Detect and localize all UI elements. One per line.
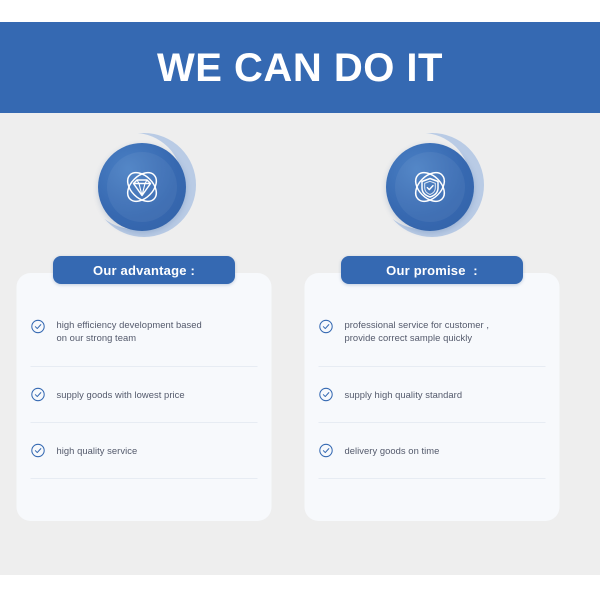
check-circle-icon	[31, 319, 46, 334]
diamond-orbit-icon	[116, 161, 168, 213]
list-item-text: supply high quality standard	[345, 388, 463, 401]
list-item-text: supply goods with lowest price	[57, 388, 185, 401]
check-circle-icon	[319, 443, 334, 458]
pill-advantage[interactable]: Our advantage :	[53, 256, 235, 284]
column-promise: Our promise : professional service for c…	[288, 113, 576, 575]
check-circle-icon	[31, 443, 46, 458]
content-stage: Our advantage : high efficiency developm…	[0, 113, 600, 575]
badge-promise	[380, 133, 484, 237]
list-item: high quality service	[31, 423, 258, 479]
poster-page: WE CAN DO IT	[0, 0, 600, 600]
column-advantage: Our advantage : high efficiency developm…	[0, 113, 288, 575]
list-item: supply high quality standard	[319, 367, 546, 423]
shield-check-orbit-icon	[404, 161, 456, 213]
list-item-text: professional service for customer , prov…	[345, 318, 490, 345]
card-advantage: high efficiency development based on our…	[17, 273, 272, 521]
list-item: professional service for customer , prov…	[319, 311, 546, 367]
list-item: delivery goods on time	[319, 423, 546, 479]
check-circle-icon	[31, 387, 46, 402]
list-item-text: high efficiency development based on our…	[57, 318, 202, 345]
badge-disc	[386, 143, 474, 231]
header-banner: WE CAN DO IT	[0, 22, 600, 113]
list-item: supply goods with lowest price	[31, 367, 258, 423]
badge-advantage	[92, 133, 196, 237]
check-circle-icon	[319, 387, 334, 402]
list-item-text: delivery goods on time	[345, 444, 440, 457]
pill-promise[interactable]: Our promise :	[341, 256, 523, 284]
advantage-list: high efficiency development based on our…	[17, 311, 272, 479]
list-item-text: high quality service	[57, 444, 138, 457]
promise-list: professional service for customer , prov…	[305, 311, 560, 479]
list-item: high efficiency development based on our…	[31, 311, 258, 367]
card-promise: professional service for customer , prov…	[305, 273, 560, 521]
check-circle-icon	[319, 319, 334, 334]
page-title: WE CAN DO IT	[157, 48, 443, 88]
pill-promise-label: Our promise :	[386, 264, 478, 277]
badge-disc	[98, 143, 186, 231]
pill-advantage-label: Our advantage :	[93, 264, 195, 277]
